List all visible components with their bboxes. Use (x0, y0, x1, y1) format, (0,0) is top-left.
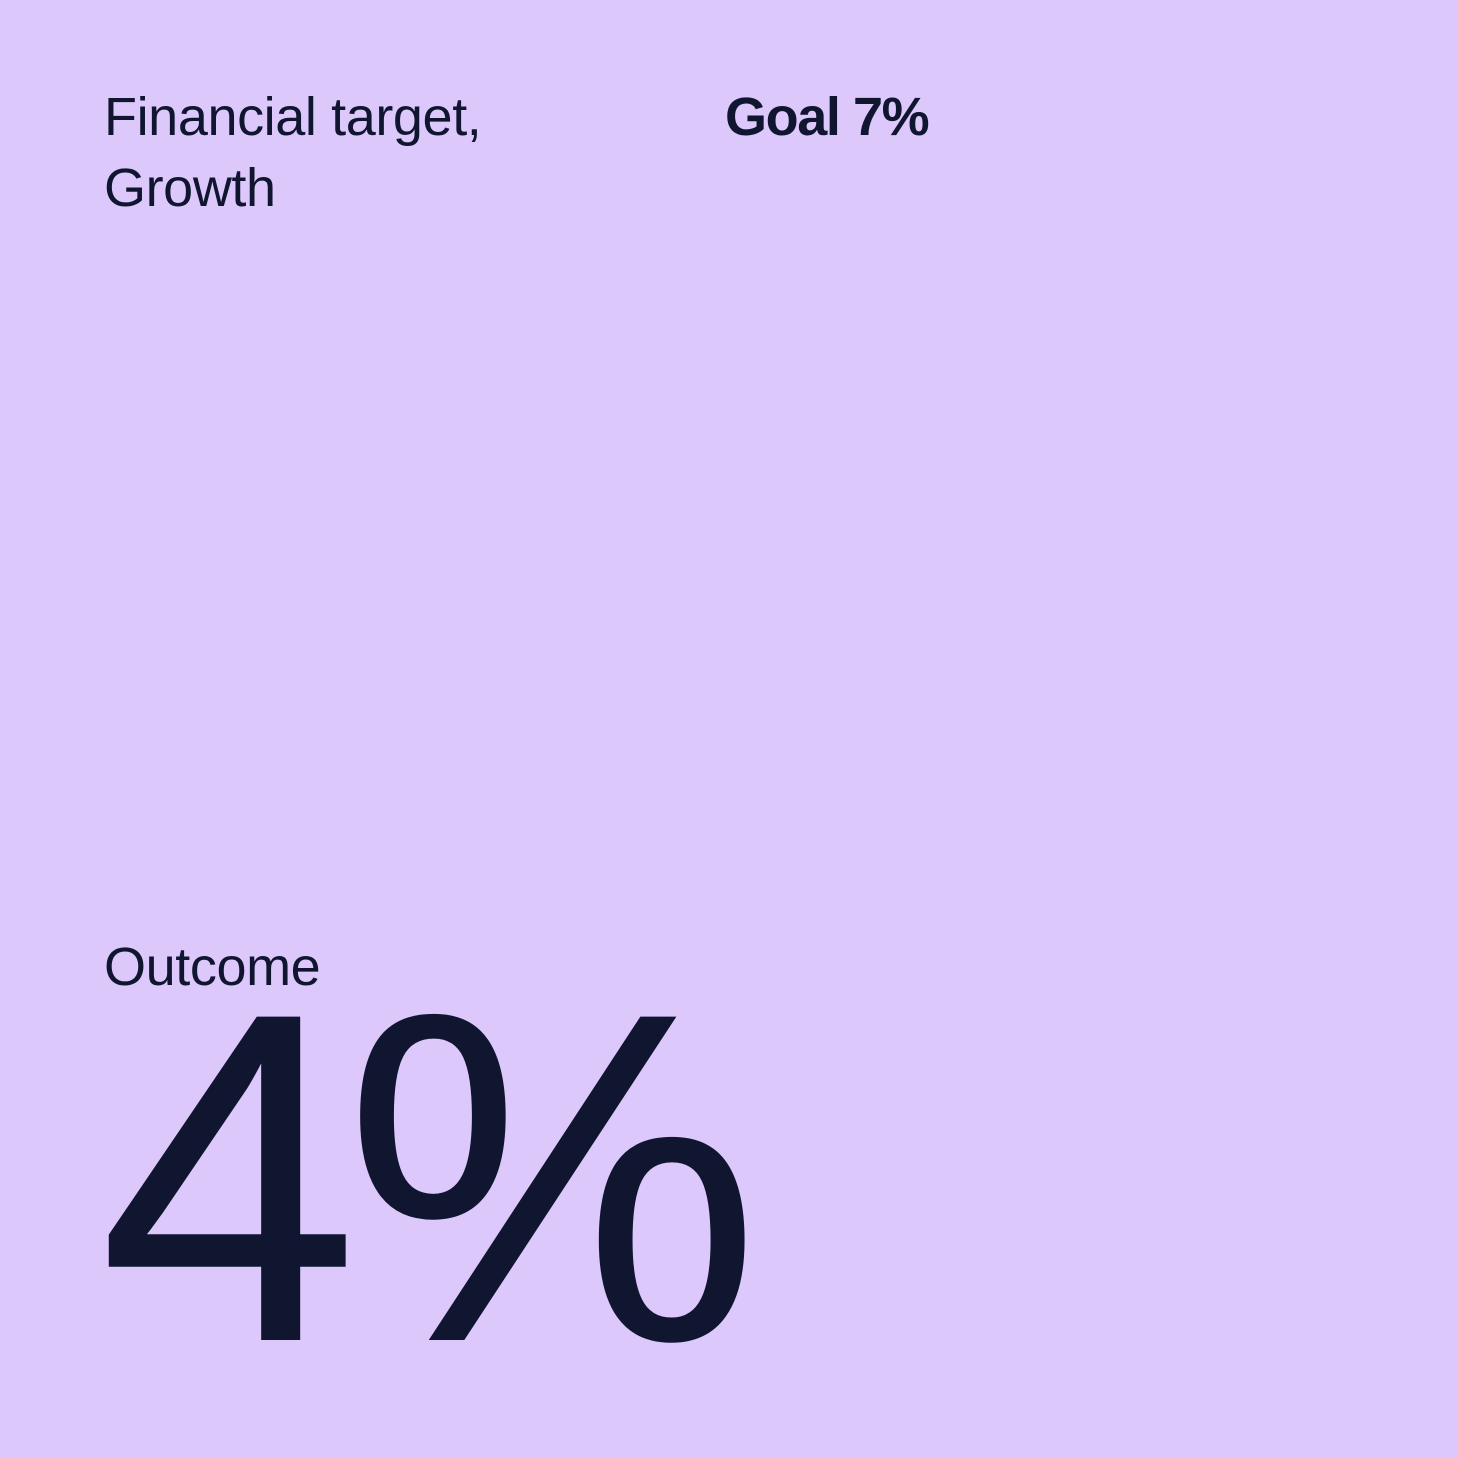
card-header: Financial target, Growth Goal 7% (104, 82, 1364, 224)
kpi-card: Financial target, Growth Goal 7% Outcome… (0, 0, 1458, 1458)
outcome-value: 4% (98, 915, 747, 1440)
outcome-block: Outcome 4% (104, 936, 1304, 1384)
outcome-value-container: 4% (104, 1004, 1304, 1384)
goal-badge: Goal 7% (725, 82, 928, 153)
page-title: Financial target, Growth (104, 82, 704, 224)
outcome-value-graphic: 4% (104, 1004, 1004, 1384)
